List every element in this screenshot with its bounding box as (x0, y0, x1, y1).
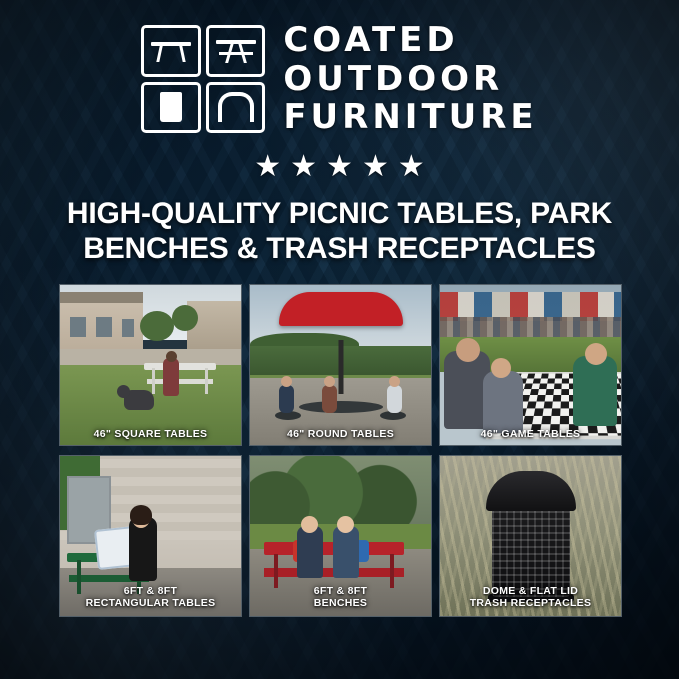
headline-line-2: BENCHES & TRASH RECEPTACLES (26, 231, 653, 266)
tile-caption: 6FT & 8FT BENCHES (250, 581, 431, 614)
brand-line-3: FURNITURE (283, 99, 537, 136)
headline: HIGH-QUALITY PICNIC TABLES, PARK BENCHES… (0, 196, 679, 266)
star-icon-2: ★ (290, 152, 317, 182)
photo-tile-square-tables[interactable]: 46" SQUARE TABLES (59, 284, 242, 446)
photo-tile-game-tables[interactable]: 46" GAME TABLES (439, 284, 622, 446)
star-icon-3: ★ (326, 152, 353, 182)
photo-game-tables (440, 285, 621, 445)
picnic-table-icon (206, 25, 266, 77)
tile-caption: 46" SQUARE TABLES (60, 424, 241, 445)
photo-tile-benches[interactable]: 6FT & 8FT BENCHES (249, 455, 432, 617)
picnic-bench-icon (141, 25, 201, 77)
photo-round-tables (250, 285, 431, 445)
trash-can-icon (141, 82, 201, 134)
headline-line-1: HIGH-QUALITY PICNIC TABLES, PARK (26, 196, 653, 231)
brand-line-2: OUTDOOR (283, 61, 537, 98)
arch-icon (206, 82, 266, 134)
star-rating: ★ ★ ★ ★ ★ (0, 152, 679, 182)
product-banner: COATED OUTDOOR FURNITURE ★ ★ ★ ★ ★ HIGH-… (0, 0, 679, 679)
star-icon-1: ★ (254, 152, 281, 182)
tile-caption: 6FT & 8FT RECTANGULAR TABLES (60, 581, 241, 614)
photo-tile-round-tables[interactable]: 46" ROUND TABLES (249, 284, 432, 446)
product-photo-grid: 46" SQUARE TABLES (0, 284, 679, 617)
logo-icon-grid (141, 25, 265, 133)
photo-tile-trash-receptacles[interactable]: DOME & FLAT LID TRASH RECEPTACLES (439, 455, 622, 617)
tile-caption: 46" ROUND TABLES (250, 424, 431, 445)
photo-square-tables (60, 285, 241, 445)
brand-line-1: COATED (283, 22, 537, 59)
star-icon-5: ★ (398, 152, 425, 182)
brand-wordmark: COATED OUTDOOR FURNITURE (283, 22, 537, 136)
tile-caption: DOME & FLAT LID TRASH RECEPTACLES (440, 581, 621, 614)
tile-caption: 46" GAME TABLES (440, 424, 621, 445)
photo-tile-rectangular-tables[interactable]: 6FT & 8FT RECTANGULAR TABLES (59, 455, 242, 617)
star-icon-4: ★ (362, 152, 389, 182)
brand-logo: COATED OUTDOOR FURNITURE (0, 0, 679, 136)
